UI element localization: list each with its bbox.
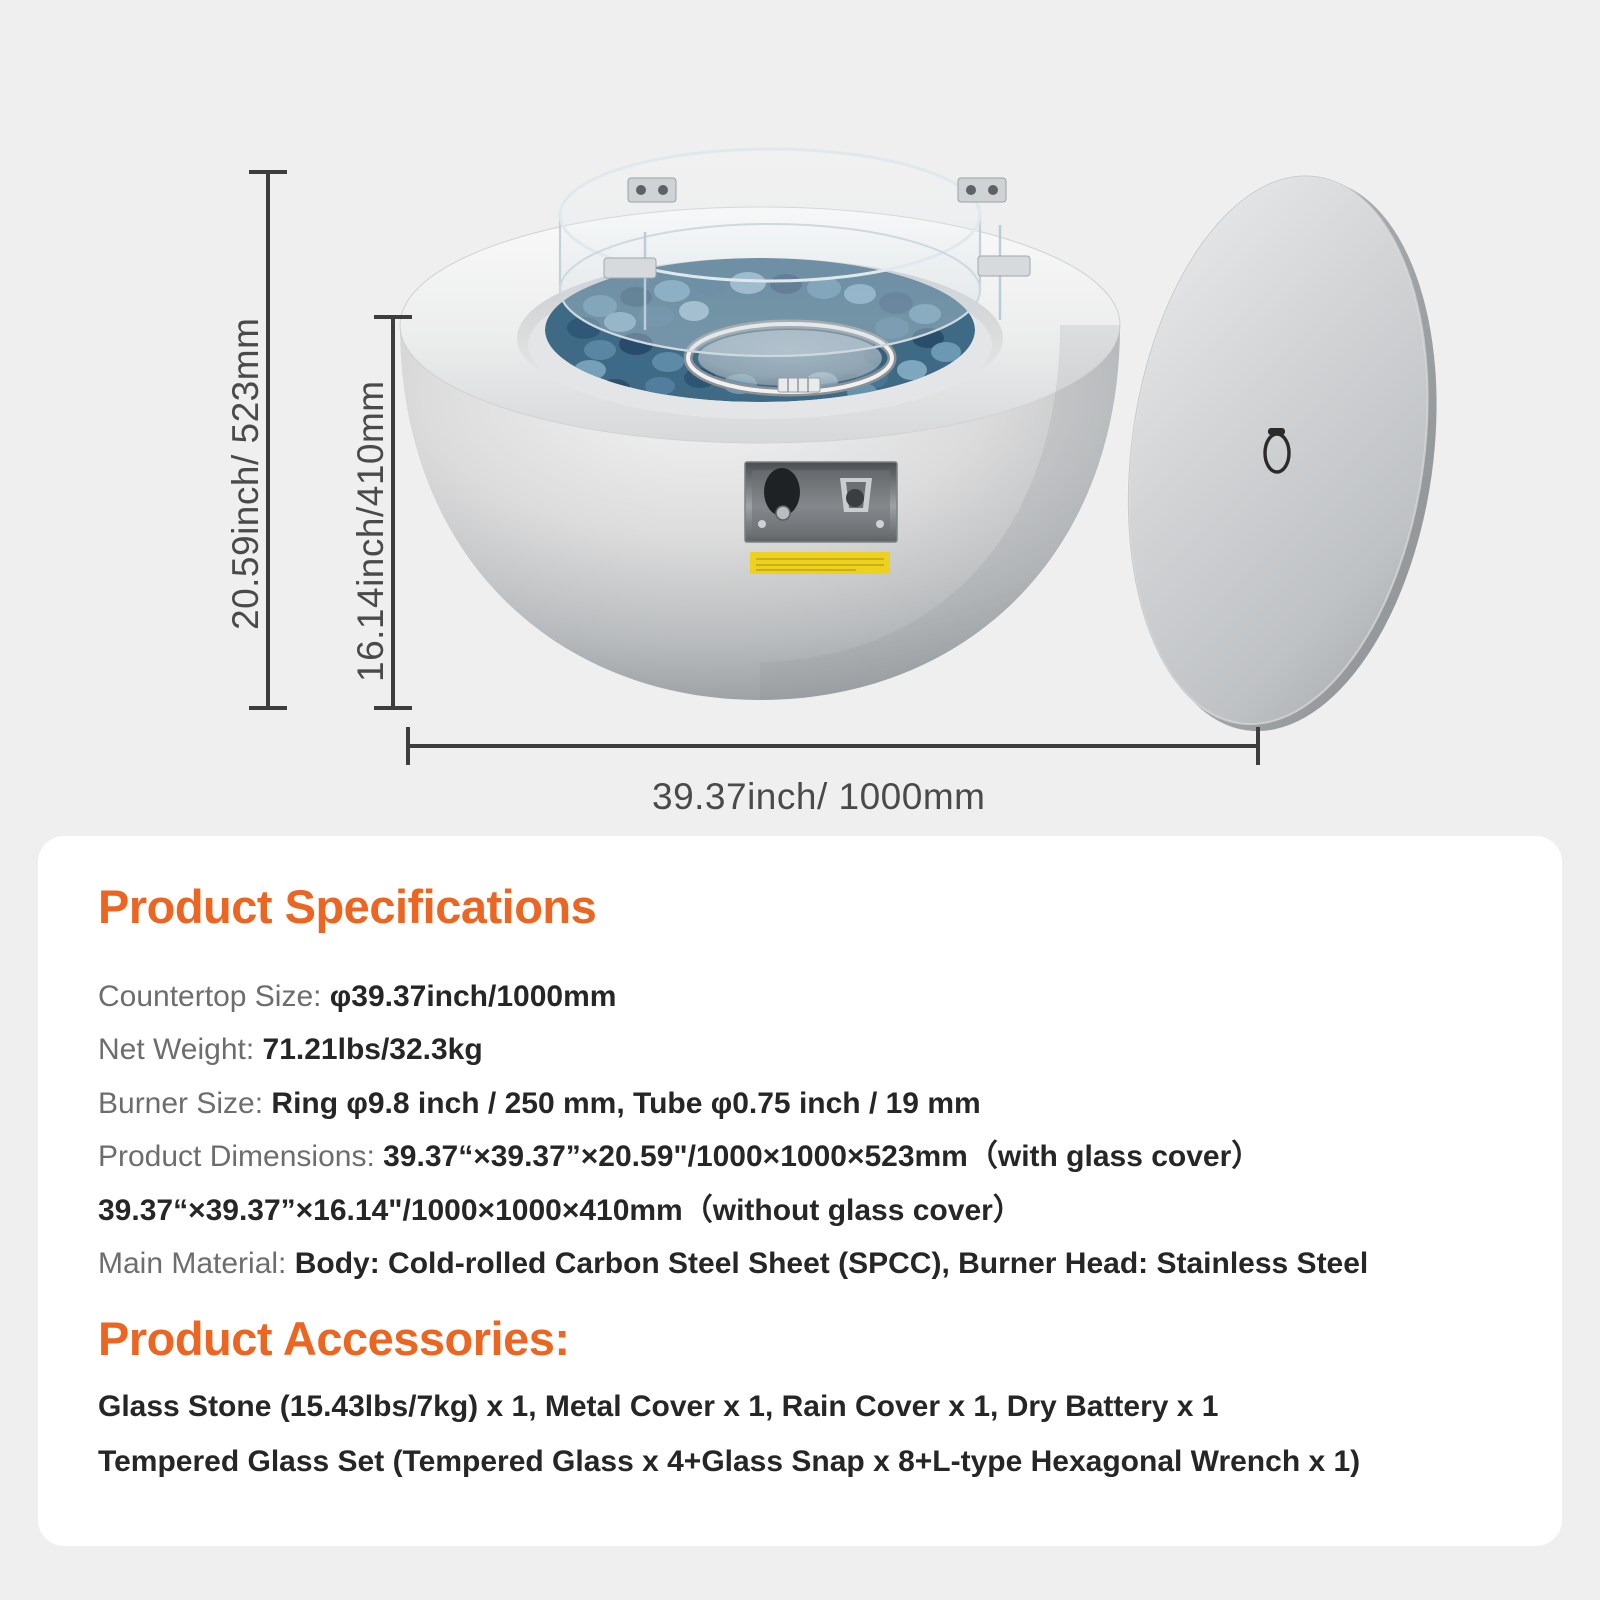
specifications-card: Product Specifications Countertop Size: … [38,836,1562,1546]
spec-label: Net Weight: [98,1033,263,1066]
spec-row-burner-size: Burner Size: Ring φ9.8 inch / 250 mm, Tu… [98,1077,1504,1130]
dimension-cap-bottom [374,706,412,710]
spec-row-main-material: Main Material: Body: Cold-rolled Carbon … [98,1237,1504,1290]
spec-row-countertop-size: Countertop Size: φ39.37inch/1000mm [98,970,1504,1023]
accessories-line-2: Tempered Glass Set (Tempered Glass x 4+G… [98,1435,1504,1490]
yellow-warning-label [750,552,890,574]
ignition-control-panel [745,462,897,574]
glass-bracket [958,178,1006,202]
accessories-line-1: Glass Stone (15.43lbs/7kg) x 1, Metal Co… [98,1380,1504,1435]
dimension-cap-top [374,315,412,319]
glass-bracket [978,256,1030,276]
spec-row-product-dimensions-continued: 39.37“×39.37”×16.14"/1000×1000×410mm（wit… [98,1184,1504,1237]
dimension-cap-right [1256,727,1260,765]
round-metal-lid [1095,156,1470,751]
specifications-list: Countertop Size: φ39.37inch/1000mm Net W… [98,970,1504,1290]
product-spec-page: 20.59inch/ 523mm 16.14inch/410mm 39.37in… [0,0,1600,1600]
spec-label: Product Dimensions: [98,1140,383,1173]
spec-row-product-dimensions: Product Dimensions: 39.37“×39.37”×20.59"… [98,1130,1504,1183]
dimension-cap-left [406,727,410,765]
spec-value: Ring φ9.8 inch / 250 mm, Tube φ0.75 inch… [271,1087,980,1120]
product-diagram: 20.59inch/ 523mm 16.14inch/410mm 39.37in… [0,0,1600,830]
spec-value: φ39.37inch/1000mm [330,980,617,1013]
spec-value: 71.21lbs/32.3kg [263,1033,483,1066]
dimension-cap-top [249,170,287,174]
dimension-line-diameter [406,727,1260,765]
product-specifications-title: Product Specifications [98,880,1504,934]
spec-label: Main Material: [98,1247,295,1280]
dimension-label-bowl-height: 16.14inch/410mm [350,380,392,682]
spec-value: Body: Cold-rolled Carbon Steel Sheet (SP… [295,1247,1369,1280]
glass-bracket [628,178,676,202]
dimension-shaft [406,744,1260,748]
product-accessories-title: Product Accessories: [98,1312,1504,1366]
glass-bracket [604,258,656,278]
spec-value: 39.37“×39.37”×20.59"/1000×1000×523mm（wit… [383,1140,1261,1173]
accessories-list: Glass Stone (15.43lbs/7kg) x 1, Metal Co… [98,1380,1504,1489]
dimension-label-diameter: 39.37inch/ 1000mm [652,776,985,818]
spec-label: Burner Size: [98,1087,271,1120]
dimension-cap-bottom [249,706,287,710]
spec-row-net-weight: Net Weight: 71.21lbs/32.3kg [98,1023,1504,1076]
dimension-label-overall-height: 20.59inch/ 523mm [225,318,267,630]
spec-label: Countertop Size: [98,980,330,1013]
